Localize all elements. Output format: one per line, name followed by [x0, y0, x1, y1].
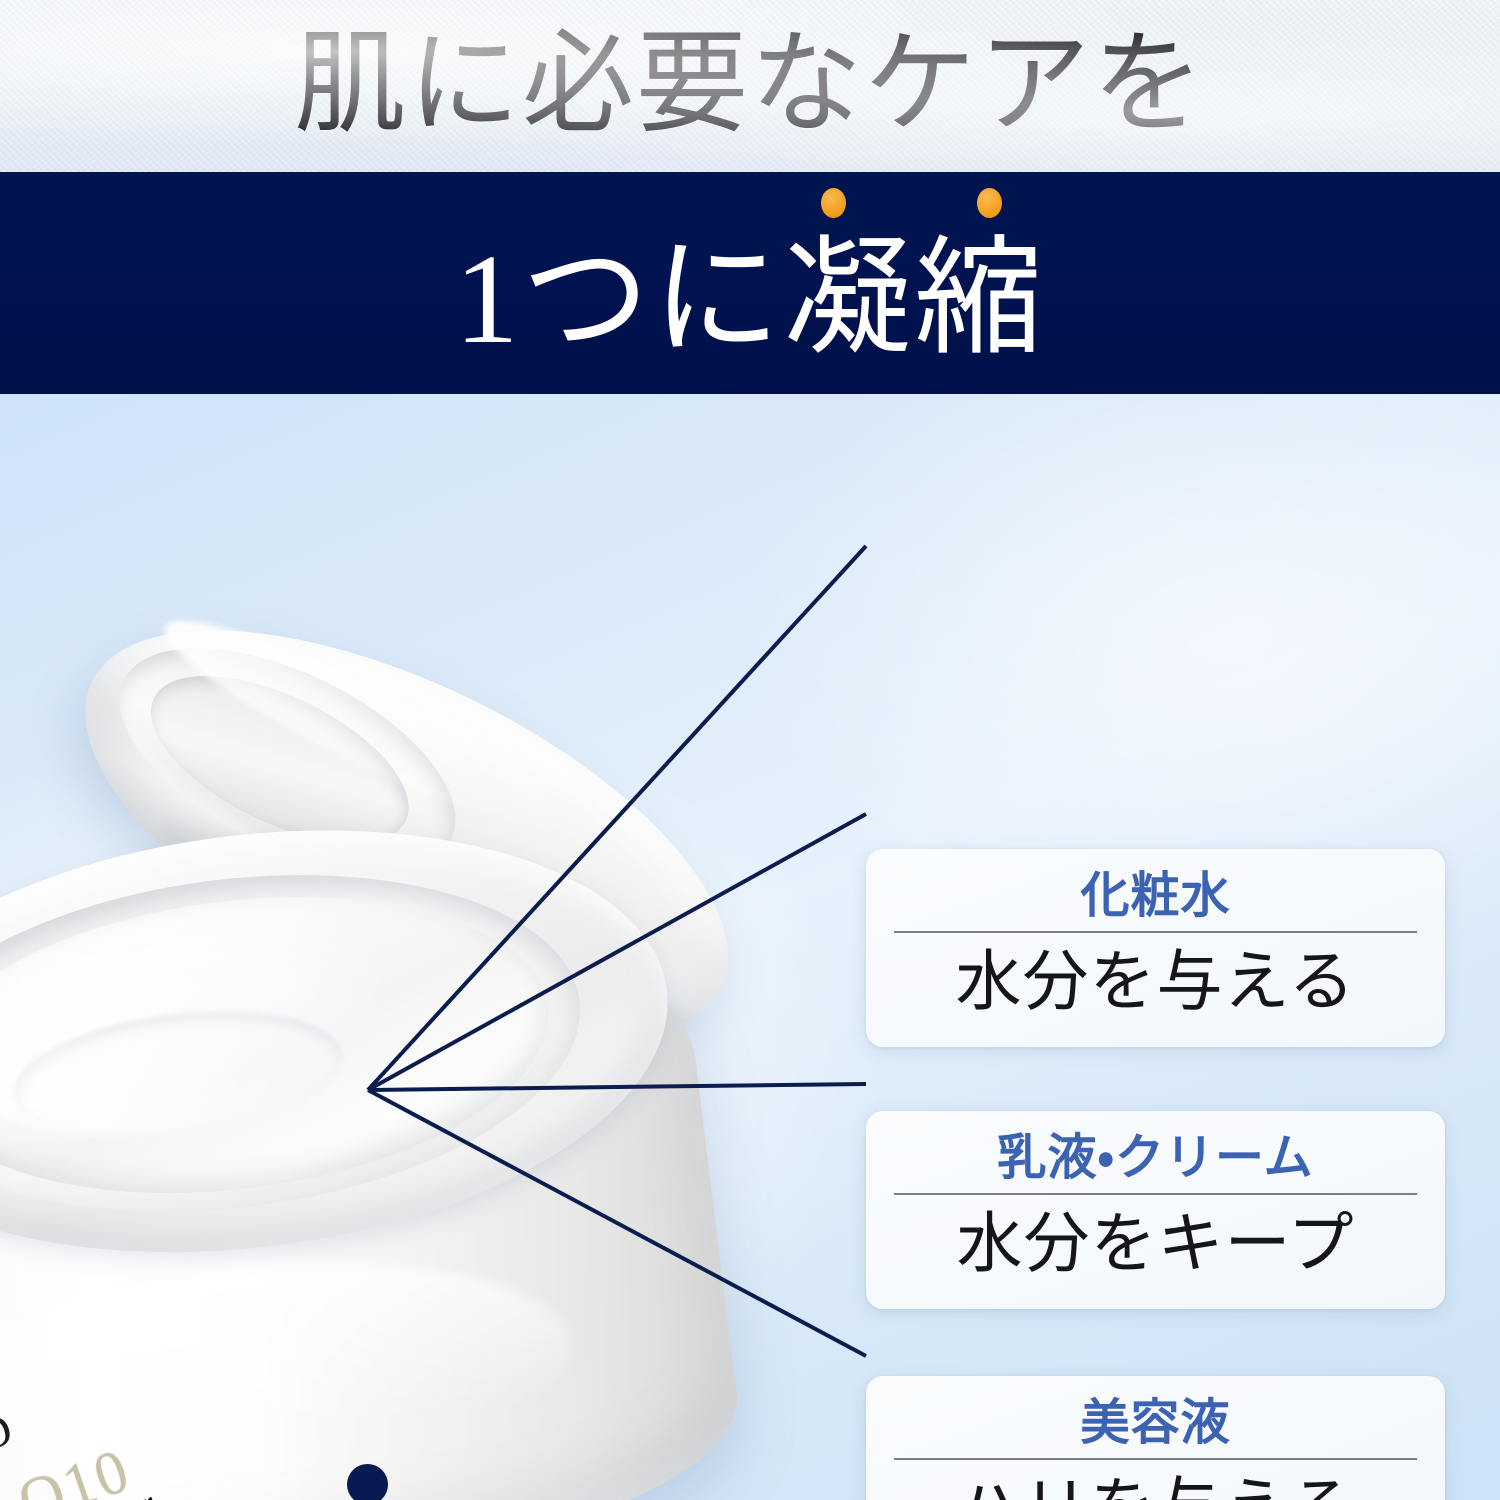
hub-dot: [347, 1464, 388, 1500]
navy-banner: 1つに凝縮: [0, 172, 1500, 394]
infographic-canvas: 肌に必要なケアを 1つに凝縮 D Q10 Per: [0, 0, 1500, 1500]
card-divider: [894, 1193, 1417, 1195]
card-divider: [894, 1458, 1417, 1460]
banner-title: 1つに凝縮: [0, 224, 1500, 374]
page-title: 肌に必要なケアを: [0, 20, 1500, 150]
benefit-card-emulsion-cream[interactable]: 乳液・クリーム 水分をキープ: [866, 1111, 1445, 1309]
benefit-card-body: 水分を与える: [892, 939, 1419, 1027]
benefit-card-title: 化粧水: [892, 865, 1419, 927]
emphasis-dot-icon: [977, 188, 1002, 218]
card-divider: [894, 931, 1417, 933]
emphasis-dot-icon: [821, 188, 846, 218]
cream-jar-image: [0, 783, 752, 1500]
main-panel: D Q10 Per 化粧水 水分を与える 乳液・クリーム 水分をキープ 美容液 …: [0, 394, 1500, 1500]
benefit-card-title: 乳液・クリーム: [892, 1127, 1419, 1189]
benefit-card-title: 美容液: [892, 1392, 1419, 1454]
benefit-card-body: ハリを与える: [892, 1466, 1419, 1500]
benefit-card-lotion[interactable]: 化粧水 水分を与える: [866, 849, 1445, 1047]
benefit-card-serum[interactable]: 美容液 ハリを与える: [866, 1376, 1445, 1500]
header-band: 肌に必要なケアを: [0, 0, 1500, 172]
benefit-card-body: 水分をキープ: [892, 1201, 1419, 1289]
